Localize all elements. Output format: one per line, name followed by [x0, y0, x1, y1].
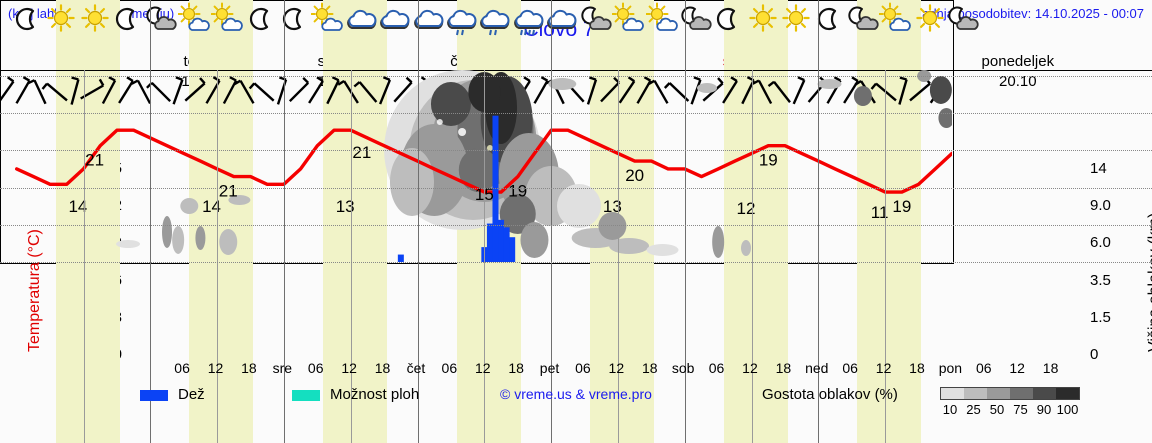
x-tick-label: 18: [1031, 360, 1071, 376]
showers-legend-swatch: [292, 390, 320, 401]
cloud-density-tick: 75: [1009, 402, 1033, 417]
chart-legend: Dež Možnost ploh © vreme.us & vreme.pro …: [132, 386, 1086, 426]
temperature-label: 21: [85, 151, 104, 170]
cloud-tick-label: 1.5: [1090, 309, 1124, 326]
cloud-density-step: [1056, 388, 1079, 399]
cloud-tick-label: 14: [1090, 160, 1124, 177]
cloud-density-scale-numbers: 1025507590100: [932, 402, 1092, 422]
cloud-density-tick: 90: [1032, 402, 1056, 417]
cloud-height-axis-title: Višina oblakov (km): [1146, 213, 1152, 352]
cloud-density-step: [964, 388, 987, 399]
cloud-density-step: [987, 388, 1010, 399]
cloud-tick-label: 9.0: [1090, 197, 1124, 214]
cloud-density-tick: 50: [985, 402, 1009, 417]
x-axis-tick-labels: 061218sre061218čet061218pet061218sob0612…: [132, 0, 1086, 443]
cloud-density-step: [941, 388, 964, 399]
temperature-label: 14: [68, 197, 87, 216]
cloud-tick-label: 3.5: [1090, 272, 1124, 289]
rain-legend-swatch: [140, 390, 168, 401]
cloud-density-scale-bar: [940, 387, 1080, 400]
cloud-density-step: [1010, 388, 1033, 399]
noon-separator: [84, 70, 85, 264]
showers-legend-label: Možnost ploh: [330, 386, 419, 403]
copyright-link[interactable]: © vreme.us & vreme.pro: [500, 386, 652, 402]
cloud-density-tick: 100: [1056, 402, 1080, 417]
cloud-density-legend-label: Gostota oblakov (%): [762, 386, 898, 403]
cloud-density-tick: 10: [938, 402, 962, 417]
cloud-tick-label: 6.0: [1090, 234, 1124, 251]
rain-legend-label: Dež: [178, 386, 205, 403]
cloud-tick-label: 0: [1090, 346, 1124, 363]
cloud-density-step: [1033, 388, 1056, 399]
cloud-density-tick: 25: [962, 402, 986, 417]
